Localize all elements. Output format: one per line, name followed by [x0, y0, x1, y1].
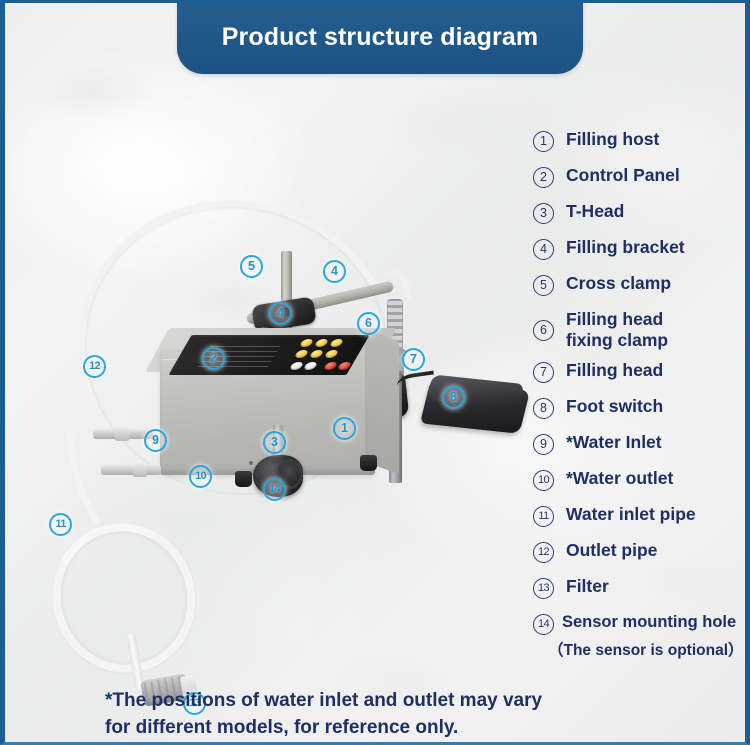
marker-filling-host: 1 — [333, 417, 356, 440]
sensor-mounting-hole-dot — [249, 461, 253, 465]
legend-number: 9 — [533, 434, 554, 455]
legend-label: *Water outlet — [566, 468, 673, 489]
legend-number: 13 — [533, 578, 554, 599]
legend-number: 4 — [533, 239, 554, 260]
machine-foot — [360, 455, 377, 471]
legend-label: Cross clamp — [566, 273, 671, 294]
legend-sensor-optional-note: （The sensor is optional） — [548, 638, 750, 660]
legend-label: *Water Inlet — [566, 432, 662, 453]
legend-item-cross-clamp: 5 Cross clamp — [533, 273, 750, 296]
legend-label: T-Head — [566, 201, 624, 222]
marker-filling-bracket-post: 4 — [269, 302, 292, 325]
legend-item-sensor-mounting-hole: 14 Sensor mounting hole — [533, 612, 750, 635]
legend-item-filling-host: 1 Filling host — [533, 129, 750, 152]
marker-water-outlet: 10 — [189, 465, 212, 488]
legend-item-control-panel: 2 Control Panel — [533, 165, 750, 188]
page-title: Product structure diagram — [222, 23, 538, 52]
legend-label: Filling head — [566, 360, 663, 381]
legend-number: 3 — [533, 203, 554, 224]
legend-number: 11 — [533, 506, 554, 527]
marker-water-inlet: 9 — [144, 429, 167, 452]
sensor-mounting-hole-dot — [267, 466, 271, 470]
legend-label: Outlet pipe — [566, 540, 657, 561]
legend-number: 10 — [533, 470, 554, 491]
legend-label: Filling bracket — [566, 237, 685, 258]
legend-label: Sensor mounting hole — [562, 612, 736, 633]
marker-t-head: 3 — [263, 431, 286, 454]
legend-item-filter: 13 Filter — [533, 576, 750, 599]
marker-water-inlet-pipe: 11 — [49, 513, 72, 536]
legend-label: Filling host — [566, 129, 659, 150]
marker-sensor-mounting-hole: 14 — [263, 478, 286, 501]
legend-item-filling-head: 7 Filling head — [533, 360, 750, 383]
legend-label: Filter — [566, 576, 609, 597]
machine-body-side — [365, 329, 399, 474]
marker-filling-head-fixing-clamp: 6 — [357, 312, 380, 335]
legend-label: Foot switch — [566, 396, 663, 417]
legend-number: 7 — [533, 362, 554, 383]
legend-number: 8 — [533, 398, 554, 419]
product-structure-diagram-page: Product structure diagram — [0, 0, 750, 745]
legend-item-foot-switch: 8 Foot switch — [533, 396, 750, 419]
legend-item-t-head: 3 T-Head — [533, 201, 750, 224]
marker-cross-clamp: 5 — [240, 255, 263, 278]
marker-filling-bracket-crossbar: 4 — [323, 260, 346, 283]
marker-control-panel: 2 — [202, 347, 225, 370]
legend-item-water-inlet-pipe: 11 Water inlet pipe — [533, 504, 750, 527]
marker-foot-switch: 8 — [442, 386, 465, 409]
header-banner: Product structure diagram — [177, 0, 583, 74]
legend-number: 6 — [533, 320, 554, 341]
marker-filling-head: 7 — [402, 348, 425, 371]
product-illustration: 1 2 3 4 4 5 6 7 8 9 10 11 12 13 14 — [5, 73, 533, 683]
legend-number: 5 — [533, 275, 554, 296]
legend-number: 12 — [533, 542, 554, 563]
legend-number: 1 — [533, 131, 554, 152]
legend-item-filling-head-fixing-clamp: 6 Filling head fixing clamp — [533, 309, 750, 351]
machine-foot — [235, 471, 252, 487]
legend-item-water-outlet: 10 *Water outlet — [533, 468, 750, 491]
legend-label: Filling head fixing clamp — [566, 309, 668, 351]
legend-label: Control Panel — [566, 165, 680, 186]
legend-number: 14 — [533, 614, 554, 635]
legend-item-water-inlet: 9 *Water Inlet — [533, 432, 750, 455]
water-inlet-nut — [115, 427, 129, 441]
legend-item-filling-bracket: 4 Filling bracket — [533, 237, 750, 260]
footnote-text: *The positions of water inlet and outlet… — [105, 687, 645, 741]
legend-number: 2 — [533, 167, 554, 188]
legend-item-outlet-pipe: 12 Outlet pipe — [533, 540, 750, 563]
marker-outlet-pipe: 12 — [83, 355, 106, 378]
legend-label: Water inlet pipe — [566, 504, 696, 525]
legend-list: 1 Filling host 2 Control Panel 3 T-Head … — [533, 129, 750, 670]
water-outlet-nut — [133, 463, 147, 477]
water-outlet-fitting — [101, 465, 161, 475]
